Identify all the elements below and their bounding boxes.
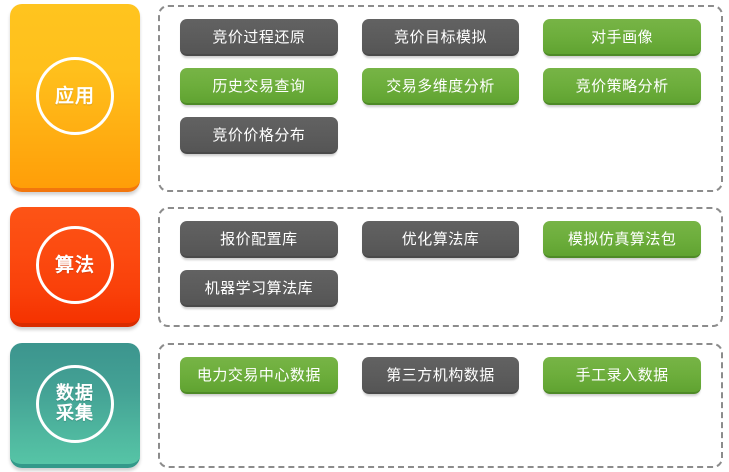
module-button-label: 手工录入数据 — [576, 364, 669, 385]
module-button[interactable]: 竞价策略分析 — [543, 68, 701, 105]
category-label-algorithm: 算法 — [55, 255, 95, 276]
category-circle-application: 应用 — [36, 57, 114, 135]
module-button-label: 电力交易中心数据 — [197, 364, 321, 385]
panel-algorithm: 报价配置库优化算法库模拟仿真算法包机器学习算法库 — [158, 207, 723, 327]
module-button[interactable]: 竞价过程还原 — [180, 19, 338, 56]
module-button-label: 竞价目标模拟 — [394, 26, 487, 47]
category-tile-application[interactable]: 应用 — [10, 4, 140, 192]
panel-application: 竞价过程还原竞价目标模拟对手画像历史交易查询交易多维度分析竞价策略分析竞价价格分… — [158, 5, 723, 192]
module-button[interactable]: 交易多维度分析 — [362, 68, 520, 105]
module-button-label: 优化算法库 — [402, 228, 480, 249]
category-label-data-collection: 数据 采集 — [56, 384, 94, 424]
category-circle-algorithm: 算法 — [36, 226, 114, 304]
module-button[interactable]: 优化算法库 — [362, 221, 520, 258]
module-button-label: 模拟仿真算法包 — [568, 228, 677, 249]
category-circle-data-collection: 数据 采集 — [36, 365, 114, 443]
architecture-diagram: 应用竞价过程还原竞价目标模拟对手画像历史交易查询交易多维度分析竞价策略分析竞价价… — [0, 0, 729, 472]
category-label-application: 应用 — [55, 86, 95, 107]
module-button-label: 交易多维度分析 — [386, 75, 495, 96]
module-button[interactable]: 机器学习算法库 — [180, 270, 338, 307]
row-spacer — [362, 270, 520, 307]
button-row: 报价配置库优化算法库模拟仿真算法包 — [160, 221, 721, 258]
module-button[interactable]: 报价配置库 — [180, 221, 338, 258]
row-spacer — [362, 117, 520, 154]
category-tile-algorithm[interactable]: 算法 — [10, 207, 140, 327]
module-button[interactable]: 手工录入数据 — [543, 357, 701, 394]
module-button-label: 对手画像 — [591, 26, 653, 47]
module-button-label: 第三方机构数据 — [386, 364, 495, 385]
module-button[interactable]: 竞价目标模拟 — [362, 19, 520, 56]
module-button[interactable]: 对手画像 — [543, 19, 701, 56]
module-button-label: 报价配置库 — [220, 228, 298, 249]
button-row: 竞价价格分布 — [160, 117, 721, 154]
button-row: 电力交易中心数据第三方机构数据手工录入数据 — [160, 357, 721, 394]
module-button-label: 竞价策略分析 — [576, 75, 669, 96]
row-spacer — [543, 117, 701, 154]
module-button-label: 竞价价格分布 — [212, 124, 305, 145]
module-button-label: 历史交易查询 — [212, 75, 305, 96]
module-button[interactable]: 模拟仿真算法包 — [543, 221, 701, 258]
module-button[interactable]: 电力交易中心数据 — [180, 357, 338, 394]
module-button-label: 竞价过程还原 — [212, 26, 305, 47]
panel-data-collection: 电力交易中心数据第三方机构数据手工录入数据 — [158, 343, 723, 468]
button-row: 历史交易查询交易多维度分析竞价策略分析 — [160, 68, 721, 105]
module-button-label: 机器学习算法库 — [205, 277, 314, 298]
module-button[interactable]: 历史交易查询 — [180, 68, 338, 105]
button-row: 竞价过程还原竞价目标模拟对手画像 — [160, 19, 721, 56]
module-button[interactable]: 第三方机构数据 — [362, 357, 520, 394]
button-row: 机器学习算法库 — [160, 270, 721, 307]
row-spacer — [543, 270, 701, 307]
module-button[interactable]: 竞价价格分布 — [180, 117, 338, 154]
category-tile-data-collection[interactable]: 数据 采集 — [10, 343, 140, 468]
